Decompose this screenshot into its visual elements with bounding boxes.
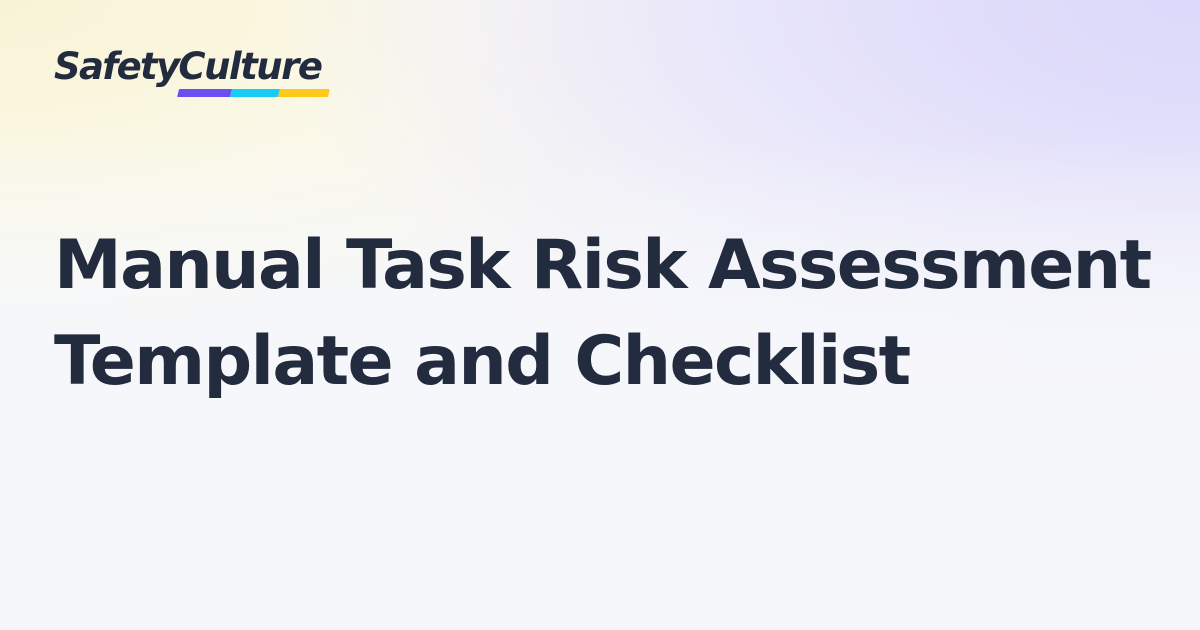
page-title-line-one: Manual Task Risk Assessment xyxy=(54,218,1144,314)
brand-underline-segment-purple xyxy=(177,89,232,97)
brand-wordmark-safety: Safety xyxy=(54,45,178,88)
brand-underline xyxy=(177,89,330,97)
brand-underline-segment-cyan xyxy=(230,89,280,97)
page-title: Manual Task Risk Assessment Template and… xyxy=(54,218,1144,410)
brand-wordmark: SafetyCulture xyxy=(54,48,321,85)
page-title-line-two: Template and Checklist xyxy=(54,314,1144,410)
card-content: SafetyCulture Manual Task Risk Assessmen… xyxy=(0,0,1200,630)
og-card: SafetyCulture Manual Task Risk Assessmen… xyxy=(0,0,1200,630)
safetyculture-logo[interactable]: SafetyCulture xyxy=(54,48,321,85)
brand-underline-segment-yellow xyxy=(278,89,330,97)
brand-wordmark-culture: Culture xyxy=(178,45,321,88)
